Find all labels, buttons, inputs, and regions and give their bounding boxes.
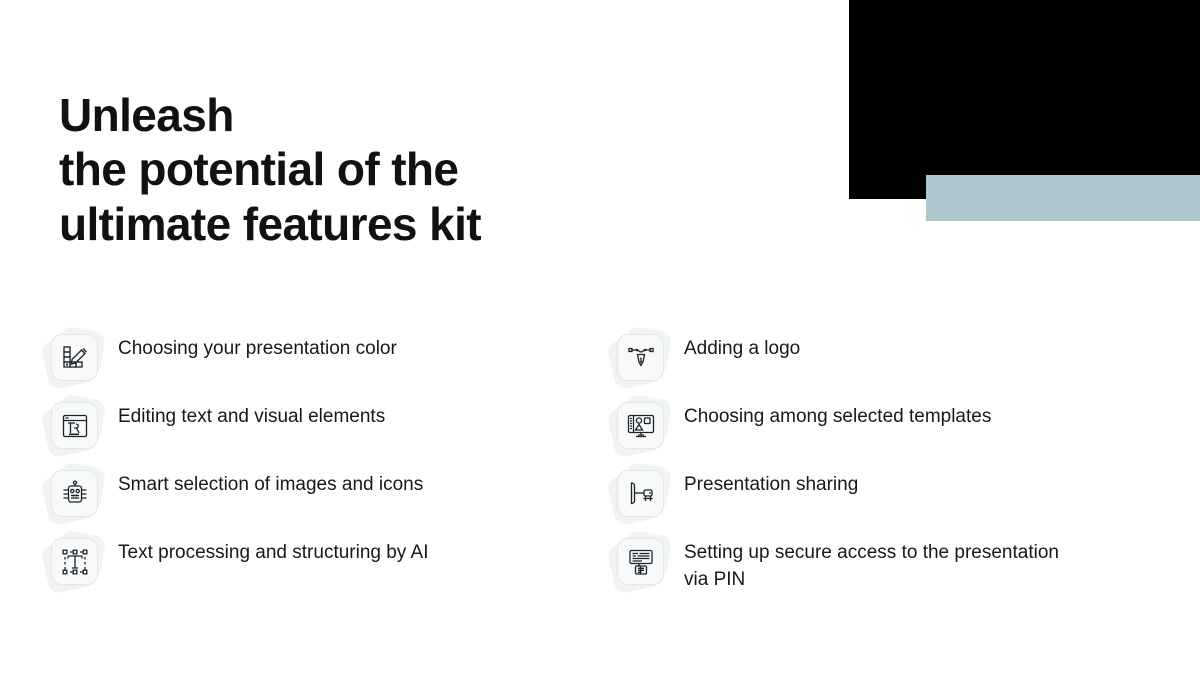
feature-label: Text processing and structuring by AI (118, 534, 429, 567)
icon-tile (51, 470, 98, 517)
feature-item[interactable]: Smart selection of images and icons (50, 466, 616, 534)
robot-head-icon (50, 468, 102, 520)
feature-item[interactable]: Adding a logo (616, 330, 1160, 398)
feature-label: Setting up secure access to the presenta… (684, 534, 1084, 594)
feature-label: Choosing your presentation color (118, 330, 397, 363)
text-tool-t-icon (50, 536, 102, 588)
feature-item[interactable]: Setting up secure access to the presenta… (616, 534, 1160, 602)
feature-item[interactable]: Choosing your presentation color (50, 330, 616, 398)
feature-label: Adding a logo (684, 330, 800, 363)
icon-tile (617, 470, 664, 517)
icon-tile (51, 402, 98, 449)
secure-pin-screen-icon (616, 536, 668, 588)
blue-gray-rectangle (926, 175, 1200, 221)
icon-tile (617, 538, 664, 585)
projector-screen-icon (616, 468, 668, 520)
monitor-shapes-icon (616, 400, 668, 452)
window-text-edit-icon (50, 400, 102, 452)
feature-label: Choosing among selected templates (684, 398, 991, 431)
feature-item[interactable]: Editing text and visual elements (50, 398, 616, 466)
pen-bezier-tool-icon (616, 332, 668, 384)
icon-tile (51, 334, 98, 381)
icon-tile (617, 334, 664, 381)
icon-tile (51, 538, 98, 585)
feature-label: Editing text and visual elements (118, 398, 385, 431)
color-palette-pen-icon (50, 332, 102, 384)
slide-canvas: Unleash the potential of the ultimate fe… (0, 0, 1200, 675)
black-rectangle (849, 0, 1200, 199)
feature-label: Presentation sharing (684, 466, 858, 499)
feature-item[interactable]: Presentation sharing (616, 466, 1160, 534)
icon-tile (617, 402, 664, 449)
feature-item[interactable]: Choosing among selected templates (616, 398, 1160, 466)
feature-label: Smart selection of images and icons (118, 466, 423, 499)
page-title: Unleash the potential of the ultimate fe… (59, 88, 679, 251)
feature-grid: Choosing your presentation color (50, 330, 1160, 602)
feature-item[interactable]: Text processing and structuring by AI (50, 534, 616, 602)
